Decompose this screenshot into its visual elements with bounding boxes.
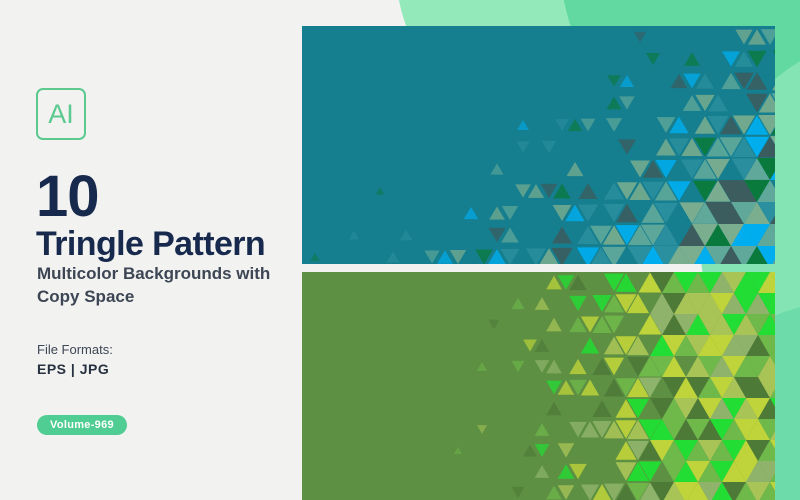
file-formats-label: File Formats: xyxy=(37,342,113,357)
page-subtitle: Multicolor Backgrounds with Copy Space xyxy=(37,263,297,308)
info-column: AI 10 Tringle Pattern Multicolor Backgro… xyxy=(36,0,306,500)
preview-teal-triangle-pattern xyxy=(302,26,775,264)
poster-canvas: AI 10 Tringle Pattern Multicolor Backgro… xyxy=(0,0,800,500)
preview-green-triangle-pattern xyxy=(302,272,775,500)
item-count: 10 xyxy=(36,168,99,226)
ai-badge-label: AI xyxy=(48,101,74,128)
file-formats-value: EPS | JPG xyxy=(37,361,109,377)
teal-triangle-grid xyxy=(302,26,775,264)
volume-badge: Volume-969 xyxy=(37,415,127,435)
volume-badge-label: Volume-969 xyxy=(50,419,114,431)
green-triangle-grid xyxy=(302,272,775,500)
page-title: Tringle Pattern xyxy=(36,227,265,263)
ai-format-badge: AI xyxy=(36,88,86,140)
